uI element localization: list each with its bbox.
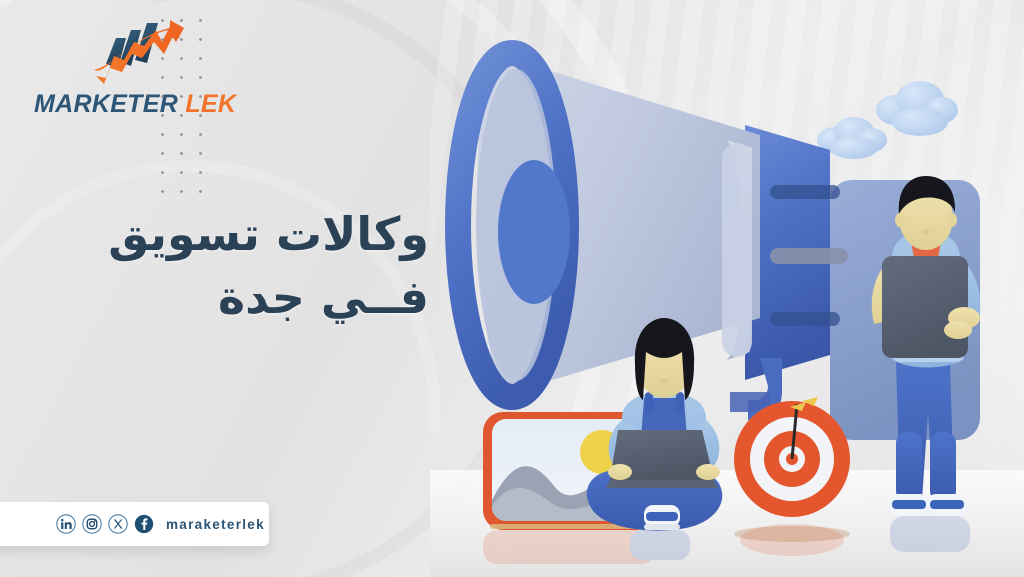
- megaphone-vent: [770, 312, 840, 326]
- page-title: وكالات تسويق فــي جدة: [108, 205, 429, 327]
- megaphone-driver: [498, 160, 570, 304]
- poster-canvas: MARKETER LEK وكالات تسويق فــي جدة: [0, 0, 1024, 577]
- dot-grid-decoration: [150, 8, 206, 198]
- social-footer-bar: maraketerlek: [0, 502, 269, 546]
- cloud-icon: [876, 81, 958, 136]
- linkedin-icon[interactable]: [56, 514, 76, 534]
- shoe: [926, 494, 968, 516]
- shoe: [644, 505, 680, 530]
- headline-line-2: فــي جدة: [108, 268, 429, 327]
- shoe: [888, 494, 930, 516]
- hero-illustration: [430, 0, 1024, 577]
- social-handle: maraketerlek: [166, 517, 265, 532]
- x-twitter-icon[interactable]: [108, 514, 128, 534]
- tablet-icon: [882, 256, 968, 358]
- instagram-icon[interactable]: [82, 514, 102, 534]
- facebook-icon[interactable]: [134, 514, 154, 534]
- headline-line-1: وكالات تسويق: [108, 205, 429, 264]
- megaphone-vent: [770, 185, 840, 199]
- megaphone-vent: [770, 248, 848, 264]
